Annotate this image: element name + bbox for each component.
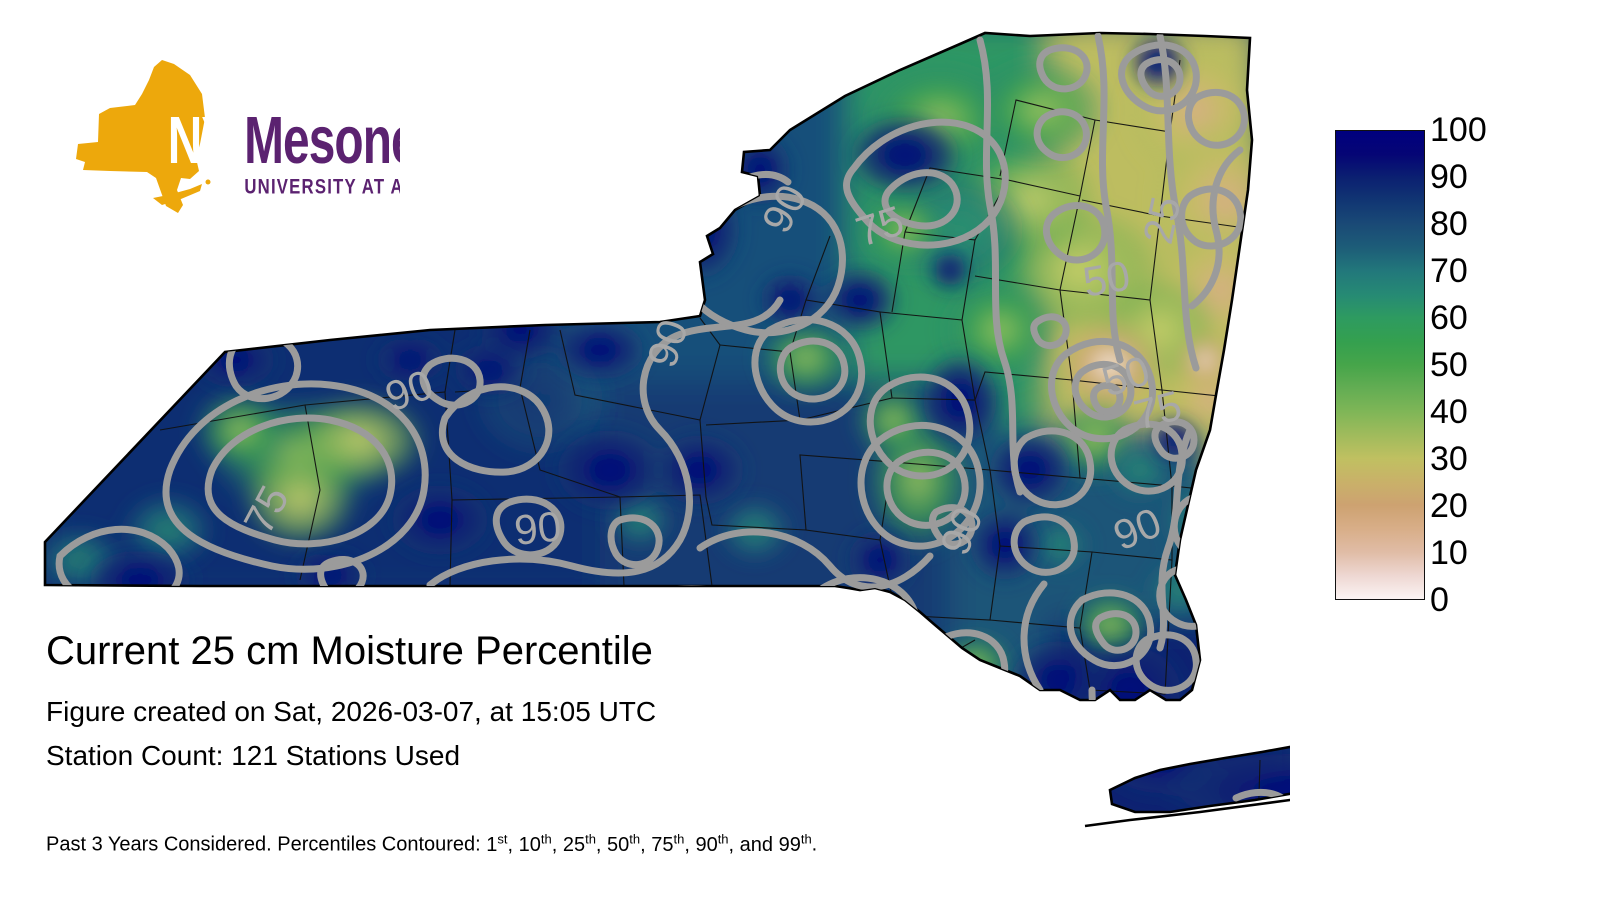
colorbar-gradient — [1335, 130, 1425, 600]
colorbar-tick-labels: 100 90 80 70 60 50 40 30 20 10 0 — [1430, 110, 1580, 620]
station-count: Station Count: 121 Stations Used — [46, 734, 1096, 778]
created-timestamp: Figure created on Sat, 2026-03-07, at 15… — [46, 690, 1096, 734]
contour-label: 90 — [512, 502, 563, 554]
colorbar-tick: 90 — [1430, 157, 1575, 197]
colorbar: 100 90 80 70 60 50 40 30 20 10 0 — [1335, 130, 1585, 610]
footnote-values: 1st, 10th, 25th, 50th, 75th, 90th, and 9… — [486, 834, 811, 856]
colorbar-tick: 40 — [1430, 392, 1575, 432]
colorbar-tick: 60 — [1430, 298, 1575, 338]
colorbar-tick: 10 — [1430, 533, 1575, 573]
colorbar-tick: 0 — [1430, 580, 1575, 620]
figure-caption-block: Current 25 cm Moisture Percentile Figure… — [46, 626, 1096, 778]
contour-label: 25 — [1134, 192, 1190, 247]
contour-footnote: Past 3 Years Considered. Percentiles Con… — [46, 826, 817, 858]
colorbar-tick: 20 — [1430, 486, 1575, 526]
colorbar-tick: 30 — [1430, 439, 1575, 479]
colorbar-tick: 70 — [1430, 251, 1575, 291]
colorbar-tick: 50 — [1430, 345, 1575, 385]
footnote-tail: . — [812, 834, 818, 856]
contour-label: 50 — [1079, 251, 1133, 305]
colorbar-tick: 80 — [1430, 204, 1575, 244]
colorbar-tick: 100 — [1430, 110, 1575, 150]
footnote-prefix: Past 3 Years Considered. Percentiles Con… — [46, 834, 486, 856]
page-title: Current 25 cm Moisture Percentile — [46, 626, 1096, 676]
